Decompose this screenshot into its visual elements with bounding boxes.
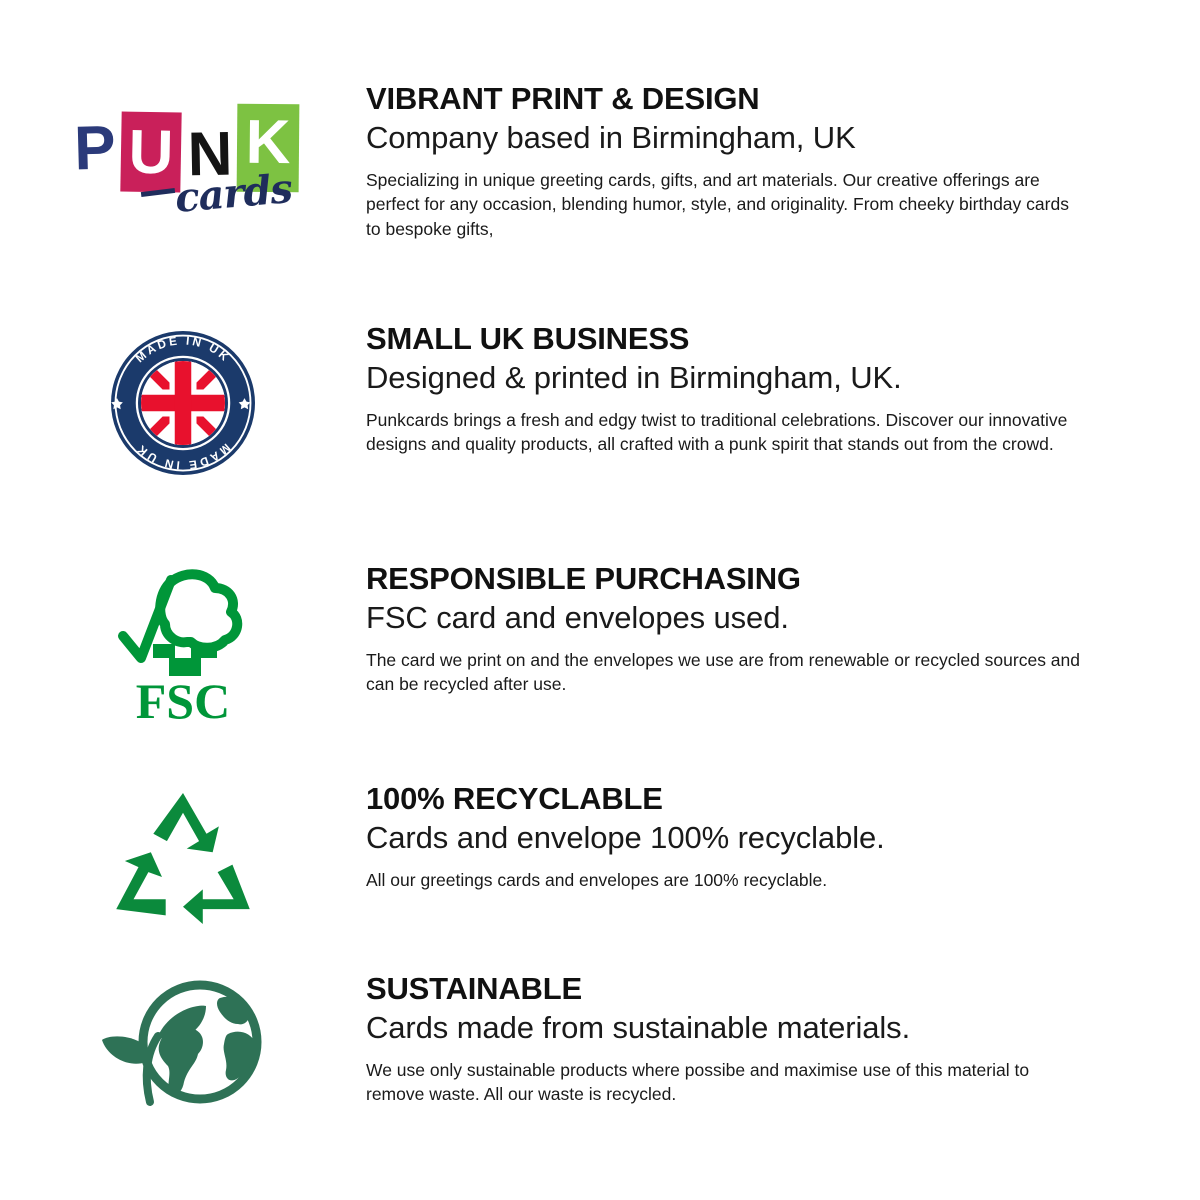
feature-body: The card we print on and the envelopes w…	[366, 648, 1086, 698]
feature-title: 100% RECYCLABLE	[366, 782, 1100, 815]
made-in-uk-badge-icon: MADE IN UK MADE IN UK	[108, 328, 258, 478]
punkcards-logo-icon: P U N K cards	[67, 104, 299, 219]
made-in-uk-svg: MADE IN UK MADE IN UK	[108, 328, 258, 478]
feature-row-sustainable: SUSTAINABLE Cards made from sustainable …	[0, 972, 1200, 1108]
feature-row-small-uk-business: MADE IN UK MADE IN UK SMALL UK BUSINESS …	[0, 322, 1200, 478]
recycle-symbol-icon	[108, 788, 258, 924]
feature-subtitle: Designed & printed in Birmingham, UK.	[366, 361, 1100, 395]
feature-text-block: RESPONSIBLE PURCHASING FSC card and enve…	[366, 562, 1200, 697]
feature-title: SMALL UK BUSINESS	[366, 322, 1100, 355]
fsc-tree-canopy	[160, 574, 237, 647]
feature-subtitle: Cards and envelope 100% recyclable.	[366, 821, 1100, 855]
features-page: P U N K cards VIBRANT PRINT & DESIGN Com…	[0, 0, 1200, 1200]
feature-text-block: SUSTAINABLE Cards made from sustainable …	[366, 972, 1200, 1107]
feature-text-block: 100% RECYCLABLE Cards and envelope 100% …	[366, 782, 1200, 892]
punk-letter-u: U	[120, 111, 181, 192]
feature-text-block: SMALL UK BUSINESS Designed & printed in …	[366, 322, 1200, 457]
feature-icon-slot	[0, 972, 366, 1108]
fsc-certification-icon: FSC	[113, 566, 253, 726]
punk-letter-p: P	[66, 109, 124, 192]
feature-icon-slot: MADE IN UK MADE IN UK	[0, 322, 366, 478]
feature-body: Punkcards brings a fresh and edgy twist …	[366, 408, 1086, 458]
fsc-wordmark: FSC	[136, 673, 230, 726]
feature-icon-slot: P U N K cards	[0, 82, 366, 219]
recycle-svg	[108, 788, 258, 924]
feature-icon-slot	[0, 782, 366, 924]
feature-body: We use only sustainable products where p…	[366, 1058, 1086, 1108]
feature-body: All our greetings cards and envelopes ar…	[366, 868, 1086, 893]
feature-subtitle: Company based in Birmingham, UK	[366, 121, 1100, 155]
globe-sprout-icon	[88, 978, 278, 1108]
feature-subtitle: Cards made from sustainable materials.	[366, 1011, 1100, 1045]
feature-text-block: VIBRANT PRINT & DESIGN Company based in …	[366, 82, 1200, 242]
feature-row-vibrant-print-design: P U N K cards VIBRANT PRINT & DESIGN Com…	[0, 82, 1200, 242]
feature-row-100-recyclable: 100% RECYCLABLE Cards and envelope 100% …	[0, 782, 1200, 924]
punk-script-cards: cards	[173, 165, 293, 222]
feature-title: SUSTAINABLE	[366, 972, 1100, 1005]
globe-sprout-svg	[88, 978, 278, 1108]
feature-body: Specializing in unique greeting cards, g…	[366, 168, 1086, 243]
feature-title: RESPONSIBLE PURCHASING	[366, 562, 1100, 595]
feature-icon-slot: FSC	[0, 562, 366, 726]
feature-title: VIBRANT PRINT & DESIGN	[366, 82, 1100, 115]
fsc-svg: FSC	[113, 566, 253, 726]
feature-subtitle: FSC card and envelopes used.	[366, 601, 1100, 635]
fsc-tree-trunk	[153, 644, 217, 676]
feature-row-responsible-purchasing: FSC RESPONSIBLE PURCHASING FSC card and …	[0, 562, 1200, 726]
